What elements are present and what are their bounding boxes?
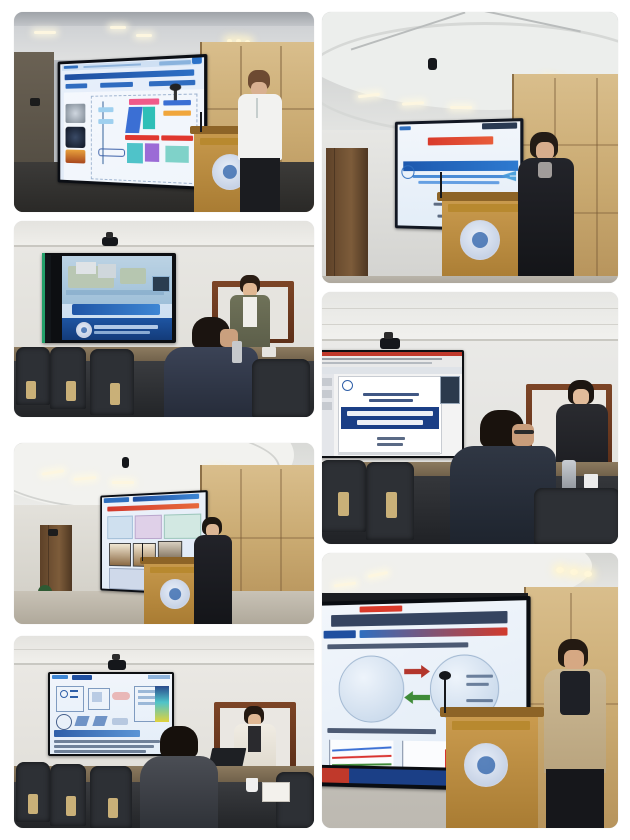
ppt-title-line-2 [357, 420, 423, 425]
photo-thumbnail-4[interactable] [322, 292, 618, 544]
slide-bullet [54, 750, 146, 753]
slide-subtitle-band [360, 627, 508, 638]
slide-headline [133, 494, 199, 502]
ceiling-light [450, 106, 472, 109]
slide-bullet [54, 745, 154, 748]
institute-emblem [464, 743, 508, 787]
scene-meeting-room-powerpoint [322, 292, 618, 544]
scene-auditorium-female-presenter [14, 443, 314, 624]
seated-person [140, 726, 218, 828]
chair[interactable] [50, 764, 86, 826]
ceiling-spot [584, 571, 592, 577]
scene-auditorium-hea-slide [322, 553, 618, 828]
ceiling-spot [570, 569, 578, 575]
ceiling-light [136, 34, 152, 37]
chair[interactable] [534, 488, 618, 544]
scene-auditorium-male-presenter [14, 12, 314, 212]
ppt-presenter-line [377, 437, 405, 440]
slide-headline [65, 69, 195, 80]
microphone [440, 172, 442, 198]
presenter-person [544, 639, 610, 828]
slide-section-line [327, 728, 436, 734]
led-wall-screen [58, 54, 208, 190]
ceiling-spot [556, 567, 564, 573]
microphone [200, 112, 202, 132]
scene-meeting-room-closing-slide [14, 221, 314, 417]
tv-panel-powerpoint [322, 350, 464, 458]
institute-emblem [460, 220, 500, 260]
slide-equation-band [54, 730, 140, 737]
podium-text-plate [452, 721, 530, 730]
microphone [444, 677, 446, 713]
ceiling-light [112, 481, 134, 484]
photo-thumbnail-3[interactable] [14, 221, 314, 417]
slide-title-en [413, 175, 510, 178]
scene-meeting-room-schematic-slide [14, 636, 314, 828]
scene-lecture-hall-female-presenter [322, 12, 618, 283]
ppt-date-line [377, 443, 403, 446]
red-arrow-icon [404, 665, 430, 678]
presenter-person [232, 70, 290, 212]
photo-collage [0, 0, 630, 840]
ceiling-camera [108, 660, 126, 670]
slide-formula-line [327, 642, 468, 649]
ppt-header-line-1 [363, 393, 419, 396]
photo-thumbnail-1[interactable] [14, 12, 314, 212]
institute-emblem [160, 579, 190, 609]
closing-slide-title [72, 304, 160, 315]
closing-slide-footer [94, 325, 158, 329]
door [326, 148, 368, 276]
chair[interactable] [252, 359, 310, 417]
forum-banner [428, 136, 493, 145]
closing-slide [62, 256, 172, 340]
photo-thumbnail-2[interactable] [322, 12, 618, 283]
chair[interactable] [90, 349, 134, 415]
green-arrow-icon [404, 691, 430, 704]
tv-panel [42, 253, 176, 343]
ppt-header-line-2 [369, 399, 413, 402]
ceiling-camera [380, 338, 400, 349]
presenter-person [516, 132, 582, 283]
slide-title-cn [403, 161, 518, 172]
ceiling-camera [102, 237, 118, 246]
podium-text-plate [448, 204, 520, 212]
slide-subtitle-en [418, 181, 499, 184]
photo-thumbnail-6[interactable] [14, 636, 314, 828]
chair[interactable] [90, 766, 132, 828]
photo-thumbnail-5[interactable] [14, 443, 314, 624]
photo-thumbnail-7[interactable] [322, 553, 618, 828]
presenter-person [192, 517, 236, 624]
ceiling-light [110, 26, 126, 29]
institute-emblem [76, 322, 92, 338]
seated-person [164, 317, 260, 417]
ppt-title-line-1 [347, 411, 433, 416]
ceiling-camera [122, 457, 129, 468]
microphone [142, 543, 143, 561]
ceiling-camera [428, 58, 437, 70]
ceiling-light [34, 31, 56, 34]
